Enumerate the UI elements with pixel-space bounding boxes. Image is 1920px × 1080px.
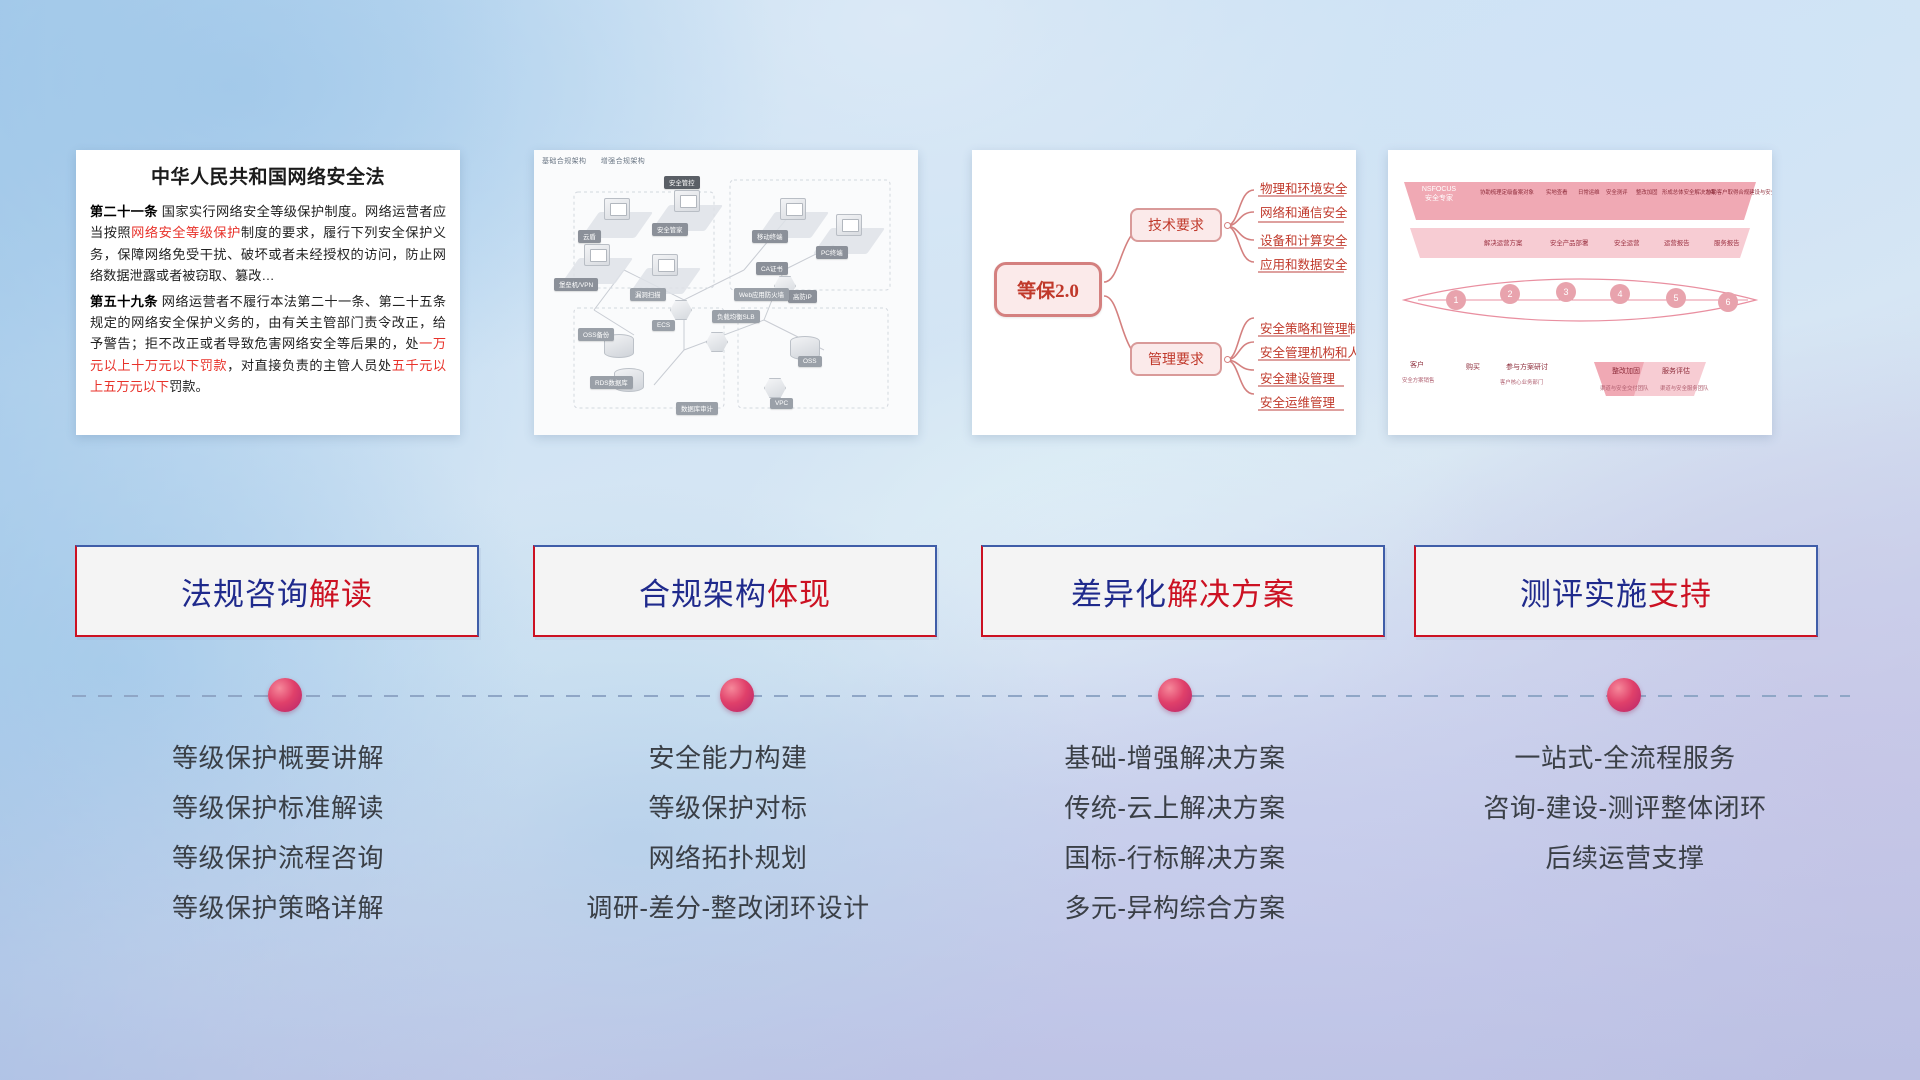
law-article-21-label: 第二十一条: [90, 204, 158, 219]
list-item: 等级保护标准解读: [48, 795, 508, 821]
architecture-label-vpc: VPC: [770, 398, 793, 409]
law-article-59-label: 第五十九条: [90, 294, 158, 309]
nsfocus-bottomsub-2: 客户核心业务部门: [1500, 378, 1543, 386]
headline-box-3[interactable]: 差异化解决方案: [981, 545, 1385, 637]
list-item: 国标-行标解决方案: [940, 845, 1410, 871]
nsfocus-stage-3: 安全运营: [1614, 238, 1640, 247]
headline-text-3: 差异化解决方案: [1071, 569, 1295, 614]
timeline: [72, 694, 1850, 698]
architecture-label-ca: CA证书: [756, 262, 788, 275]
headline-box-2[interactable]: 合规架构体现: [533, 545, 937, 637]
headline-text-4: 测评实施支持: [1520, 569, 1712, 614]
list-item: 等级保护策略详解: [48, 895, 508, 921]
nsfocus-brand: NSFOCUS 安全专家: [1408, 186, 1470, 204]
mindmap-dot-management: [1224, 356, 1231, 363]
law-card[interactable]: 中华人民共和国网络安全法 第二十一条 国家实行网络安全等级保护制度。网络运营者应…: [76, 150, 460, 435]
architecture-diagram: 基础合规架构 增强合规架构: [534, 150, 918, 435]
nsfocus-topchip-2: 实地查看: [1546, 188, 1568, 196]
list-item: 咨询-建设-测评整体闭环: [1390, 795, 1860, 821]
law-card-title: 中华人民共和国网络安全法: [90, 162, 446, 189]
law-card-body: 中华人民共和国网络安全法 第二十一条 国家实行网络安全等级保护制度。网络运营者应…: [76, 150, 460, 409]
nsfocus-bottom-4: 服务评估: [1662, 366, 1690, 376]
nsfocus-step-3: 3: [1556, 282, 1576, 302]
mindmap-leaf-build: 安全建设管理: [1260, 368, 1335, 389]
architecture-node-3: [584, 244, 610, 266]
column-evaluation: 一站式-全流程服务 咨询-建设-测评整体闭环 后续运营支撑: [1390, 745, 1860, 895]
headline-box-1[interactable]: 法规咨询解读: [75, 545, 479, 637]
nsfocus-stage-5: 服务报告: [1714, 238, 1740, 247]
image-card-row: 中华人民共和国网络安全法 第二十一条 国家实行网络安全等级保护制度。网络运营者应…: [0, 150, 1920, 440]
timeline-node-1[interactable]: [268, 678, 302, 712]
list-item: 调研-差分-整改闭环设计: [498, 895, 958, 921]
list-item: 多元-异构综合方案: [940, 895, 1410, 921]
nsfocus-bottomsub-4: 渠道与安全服务团队: [1660, 384, 1709, 392]
nsfocus-topchip-5: 整改加固: [1636, 188, 1658, 196]
list-item: 基础-增强解决方案: [940, 745, 1410, 771]
architecture-label-mobile: 移动终端: [752, 230, 788, 243]
architecture-node-4: [652, 254, 678, 276]
column-regulation: 等级保护概要讲解 等级保护标准解读 等级保护流程咨询 等级保护策略详解: [48, 745, 508, 945]
architecture-label-oss: OSS: [798, 356, 822, 367]
architecture-label-bastion: 堡垒机/VPN: [554, 278, 598, 291]
mindmap-branch-management: 管理要求: [1130, 342, 1222, 376]
mindmap-card[interactable]: 等保2.0 技术要求 物理和环境安全 网络和通信安全 设备和计算安全 应用和数据…: [972, 150, 1356, 435]
nsfocus-bottom-1: 购买: [1466, 362, 1480, 372]
law-article-59-text-2: ，对直接负责的主管人员处: [227, 358, 392, 373]
headline-box-4[interactable]: 测评实施支持: [1414, 545, 1818, 637]
nsfocus-bottomsub-3: 渠道与安全交付团队: [1600, 384, 1649, 392]
architecture-node-2: [674, 190, 700, 212]
timeline-node-3[interactable]: [1158, 678, 1192, 712]
architecture-label-ecs: ECS: [652, 320, 675, 331]
nsfocus-brand-line2: 安全专家: [1425, 195, 1453, 202]
list-item: 网络拓扑规划: [498, 845, 958, 871]
list-item: 等级保护概要讲解: [48, 745, 508, 771]
nsfocus-topchip-3: 日常运维: [1578, 188, 1600, 196]
nsfocus-diagram: NSFOCUS 安全专家 协助梳理定级备案对象 实地查看 日常运维 安全测评 整…: [1388, 150, 1772, 435]
column-solution: 基础-增强解决方案 传统-云上解决方案 国标-行标解决方案 多元-异构综合方案: [940, 745, 1410, 945]
law-article-59-text-3: 罚款。: [169, 379, 209, 394]
nsfocus-step-4: 4: [1610, 284, 1630, 304]
architecture-node-5: [780, 198, 806, 220]
headline-4-part-a: 测评实施: [1520, 577, 1648, 612]
headline-4-part-b: 支持: [1648, 577, 1712, 612]
list-item: 后续运营支撑: [1390, 845, 1860, 871]
nsfocus-step-6: 6: [1718, 292, 1738, 312]
architecture-connector-lines: [534, 150, 918, 435]
law-article-21-highlight: 网络安全等级保护: [131, 225, 241, 240]
nsfocus-stage-4: 运营报告: [1664, 238, 1690, 247]
nsfocus-stage-2: 安全产品部署: [1550, 238, 1588, 247]
nsfocus-topchip-4: 安全测评: [1606, 188, 1628, 196]
architecture-label-antiddos: 高防IP: [788, 290, 817, 303]
architecture-label-pc: PC终端: [816, 246, 848, 259]
architecture-label-rds: RDS数据库: [590, 376, 633, 389]
nsfocus-step-5: 5: [1666, 288, 1686, 308]
list-item: 安全能力构建: [498, 745, 958, 771]
nsfocus-step-2: 2: [1500, 284, 1520, 304]
nsfocus-brand-line1: NSFOCUS: [1422, 186, 1456, 193]
mindmap-diagram: 等保2.0 技术要求 物理和环境安全 网络和通信安全 设备和计算安全 应用和数据…: [972, 150, 1356, 435]
architecture-label-slb: 负载均衡SLB: [712, 310, 760, 323]
nsfocus-bottom-3: 整改加固: [1612, 366, 1640, 376]
list-item: 传统-云上解决方案: [940, 795, 1410, 821]
headline-3-part-b: 解决方案: [1167, 577, 1295, 612]
list-item: 等级保护对标: [498, 795, 958, 821]
headline-2-part-a: 合规架构: [639, 577, 767, 612]
architecture-label-waf: Web应用防火墙: [734, 288, 789, 301]
headline-1-part-a: 法规咨询: [181, 577, 309, 612]
mindmap-leaf-ops: 安全运维管理: [1260, 392, 1335, 413]
headline-text-2: 合规架构体现: [639, 569, 831, 614]
nsfocus-stage-1: 解决运营方案: [1484, 238, 1522, 247]
architecture-label-securitymgr: 安全管家: [652, 223, 688, 236]
nsfocus-topchip-1: 协助梳理定级备案对象: [1480, 188, 1534, 196]
architecture-label-topbar: 安全管控: [664, 176, 700, 189]
nsfocus-persona-customer: 客户: [1410, 360, 1424, 370]
architecture-label-vulnscan: 漏洞扫描: [630, 288, 666, 301]
nsfocus-step-1: 1: [1446, 290, 1466, 310]
list-item: 等级保护流程咨询: [48, 845, 508, 871]
mindmap-leaf-policy: 安全策略和管理制度: [1260, 318, 1356, 339]
timeline-node-4[interactable]: [1607, 678, 1641, 712]
architecture-label-cloudshield: 云盾: [578, 230, 601, 243]
architecture-label-dbaudit: 数据库审计: [676, 402, 718, 415]
column-architecture: 安全能力构建 等级保护对标 网络拓扑规划 调研-差分-整改闭环设计: [498, 745, 958, 945]
nsfocus-card[interactable]: NSFOCUS 安全专家 协助梳理定级备案对象 实地查看 日常运维 安全测评 整…: [1388, 150, 1772, 435]
law-article-21: 第二十一条 国家实行网络安全等级保护制度。网络运营者应当按照网络安全等级保护制度…: [90, 201, 446, 287]
timeline-node-2[interactable]: [720, 678, 754, 712]
architecture-node-6: [836, 214, 862, 236]
timeline-dashed-line: [72, 695, 1850, 697]
list-item: 一站式-全流程服务: [1390, 745, 1860, 771]
nsfocus-bottom-2: 参与方案研讨: [1506, 362, 1548, 372]
slide-stage: 中华人民共和国网络安全法 第二十一条 国家实行网络安全等级保护制度。网络运营者应…: [0, 0, 1920, 1080]
headline-row: 法规咨询解读 合规架构体现 差异化解决方案 测评实施支持: [0, 545, 1920, 645]
headline-2-part-b: 体现: [767, 577, 831, 612]
law-article-59: 第五十九条 网络运营者不履行本法第二十一条、第二十五条规定的网络安全保护义务的，…: [90, 291, 446, 398]
mindmap-leaf-org: 安全管理机构和人员: [1260, 342, 1356, 363]
nsfocus-topchip-7: 协助客户取得合规建设与安全运维服务: [1706, 188, 1772, 196]
headline-text-1: 法规咨询解读: [181, 569, 373, 614]
headline-3-part-a: 差异化: [1071, 577, 1167, 612]
architecture-node-1: [604, 198, 630, 220]
architecture-card[interactable]: 基础合规架构 增强合规架构: [534, 150, 918, 435]
architecture-label-oss-backup: OSS备份: [578, 328, 614, 341]
nsfocus-bottomsub-1: 安全方案销售: [1402, 376, 1434, 384]
headline-1-part-b: 解读: [309, 577, 373, 612]
